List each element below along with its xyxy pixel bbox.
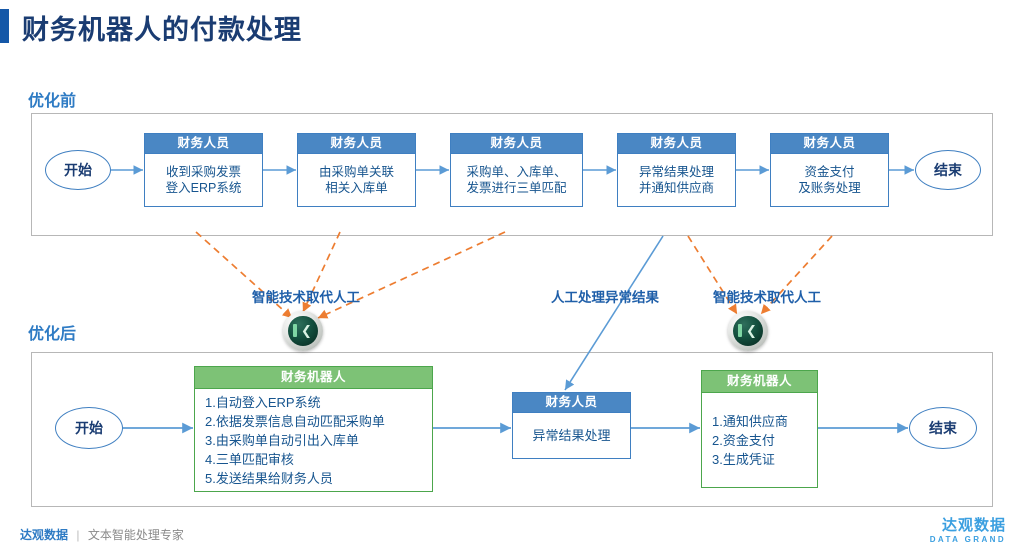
footer-tagline: 文本智能处理专家 [88, 528, 184, 542]
process-box-body: 由采购单关联 相关入库单 [298, 153, 415, 206]
robot-mark-chevron: ❮ [301, 324, 310, 337]
footer-brand: 达观数据 [20, 528, 68, 542]
process-box-after-1[interactable]: 财务机器人 1.自动登入ERP系统 2.依据发票信息自动匹配采购单 3.由采购单… [194, 366, 433, 492]
section-label-after: 优化后 [28, 320, 76, 344]
title-accent-bar [0, 9, 9, 43]
annotation-middle: 人工处理异常结果 [551, 286, 659, 306]
footer-left: 达观数据 | 文本智能处理专家 [20, 526, 184, 543]
page-title: 财务机器人的付款处理 [22, 8, 302, 47]
footer-logo-cn: 达观数据 [930, 517, 1006, 534]
process-box-header: 财务人员 [771, 134, 888, 153]
process-box-body: 异常结果处理 [513, 412, 630, 458]
robot-badge-icon-left: ❮ [283, 311, 323, 351]
annotation-left: 智能技术取代人工 [252, 286, 360, 306]
process-box-after-2[interactable]: 财务人员 异常结果处理 [512, 392, 631, 459]
start-terminator-after: 开始 [55, 407, 123, 449]
process-box-before-2[interactable]: 财务人员 由采购单关联 相关入库单 [297, 133, 416, 207]
end-terminator-after: 结束 [909, 407, 977, 449]
start-terminator-before: 开始 [45, 150, 111, 190]
annotation-right: 智能技术取代人工 [713, 286, 821, 306]
process-box-body: 资金支付 及账务处理 [771, 153, 888, 206]
process-box-header: 财务人员 [451, 134, 582, 153]
process-box-body: 1.自动登入ERP系统 2.依据发票信息自动匹配采购单 3.由采购单自动引出入库… [195, 388, 432, 491]
process-box-before-3[interactable]: 财务人员 采购单、入库单、 发票进行三单匹配 [450, 133, 583, 207]
footer-logo-en: DATA GRAND [930, 534, 1006, 545]
process-box-before-5[interactable]: 财务人员 资金支付 及账务处理 [770, 133, 889, 207]
process-box-body: 1.通知供应商 2.资金支付 3.生成凭证 [702, 392, 817, 487]
robot-mark-bars [293, 324, 297, 337]
process-box-header: 财务人员 [145, 134, 262, 153]
robot-mark-chevron: ❮ [746, 324, 755, 337]
end-terminator-before: 结束 [915, 150, 981, 190]
process-box-header: 财务人员 [618, 134, 735, 153]
process-box-body: 采购单、入库单、 发票进行三单匹配 [451, 153, 582, 206]
process-box-after-3[interactable]: 财务机器人 1.通知供应商 2.资金支付 3.生成凭证 [701, 370, 818, 488]
robot-badge-icon-right: ❮ [728, 311, 768, 351]
process-box-header: 财务人员 [298, 134, 415, 153]
footer-logo: 达观数据 DATA GRAND [930, 517, 1006, 545]
process-box-body: 收到采购发票 登入ERP系统 [145, 153, 262, 206]
process-box-before-4[interactable]: 财务人员 异常结果处理 并通知供应商 [617, 133, 736, 207]
process-box-header: 财务机器人 [195, 367, 432, 388]
process-box-before-1[interactable]: 财务人员 收到采购发票 登入ERP系统 [144, 133, 263, 207]
section-label-before: 优化前 [28, 87, 76, 111]
footer-separator: | [76, 528, 79, 542]
process-box-body: 异常结果处理 并通知供应商 [618, 153, 735, 206]
process-box-header: 财务人员 [513, 393, 630, 412]
process-box-header: 财务机器人 [702, 371, 817, 392]
robot-mark-bars [738, 324, 742, 337]
